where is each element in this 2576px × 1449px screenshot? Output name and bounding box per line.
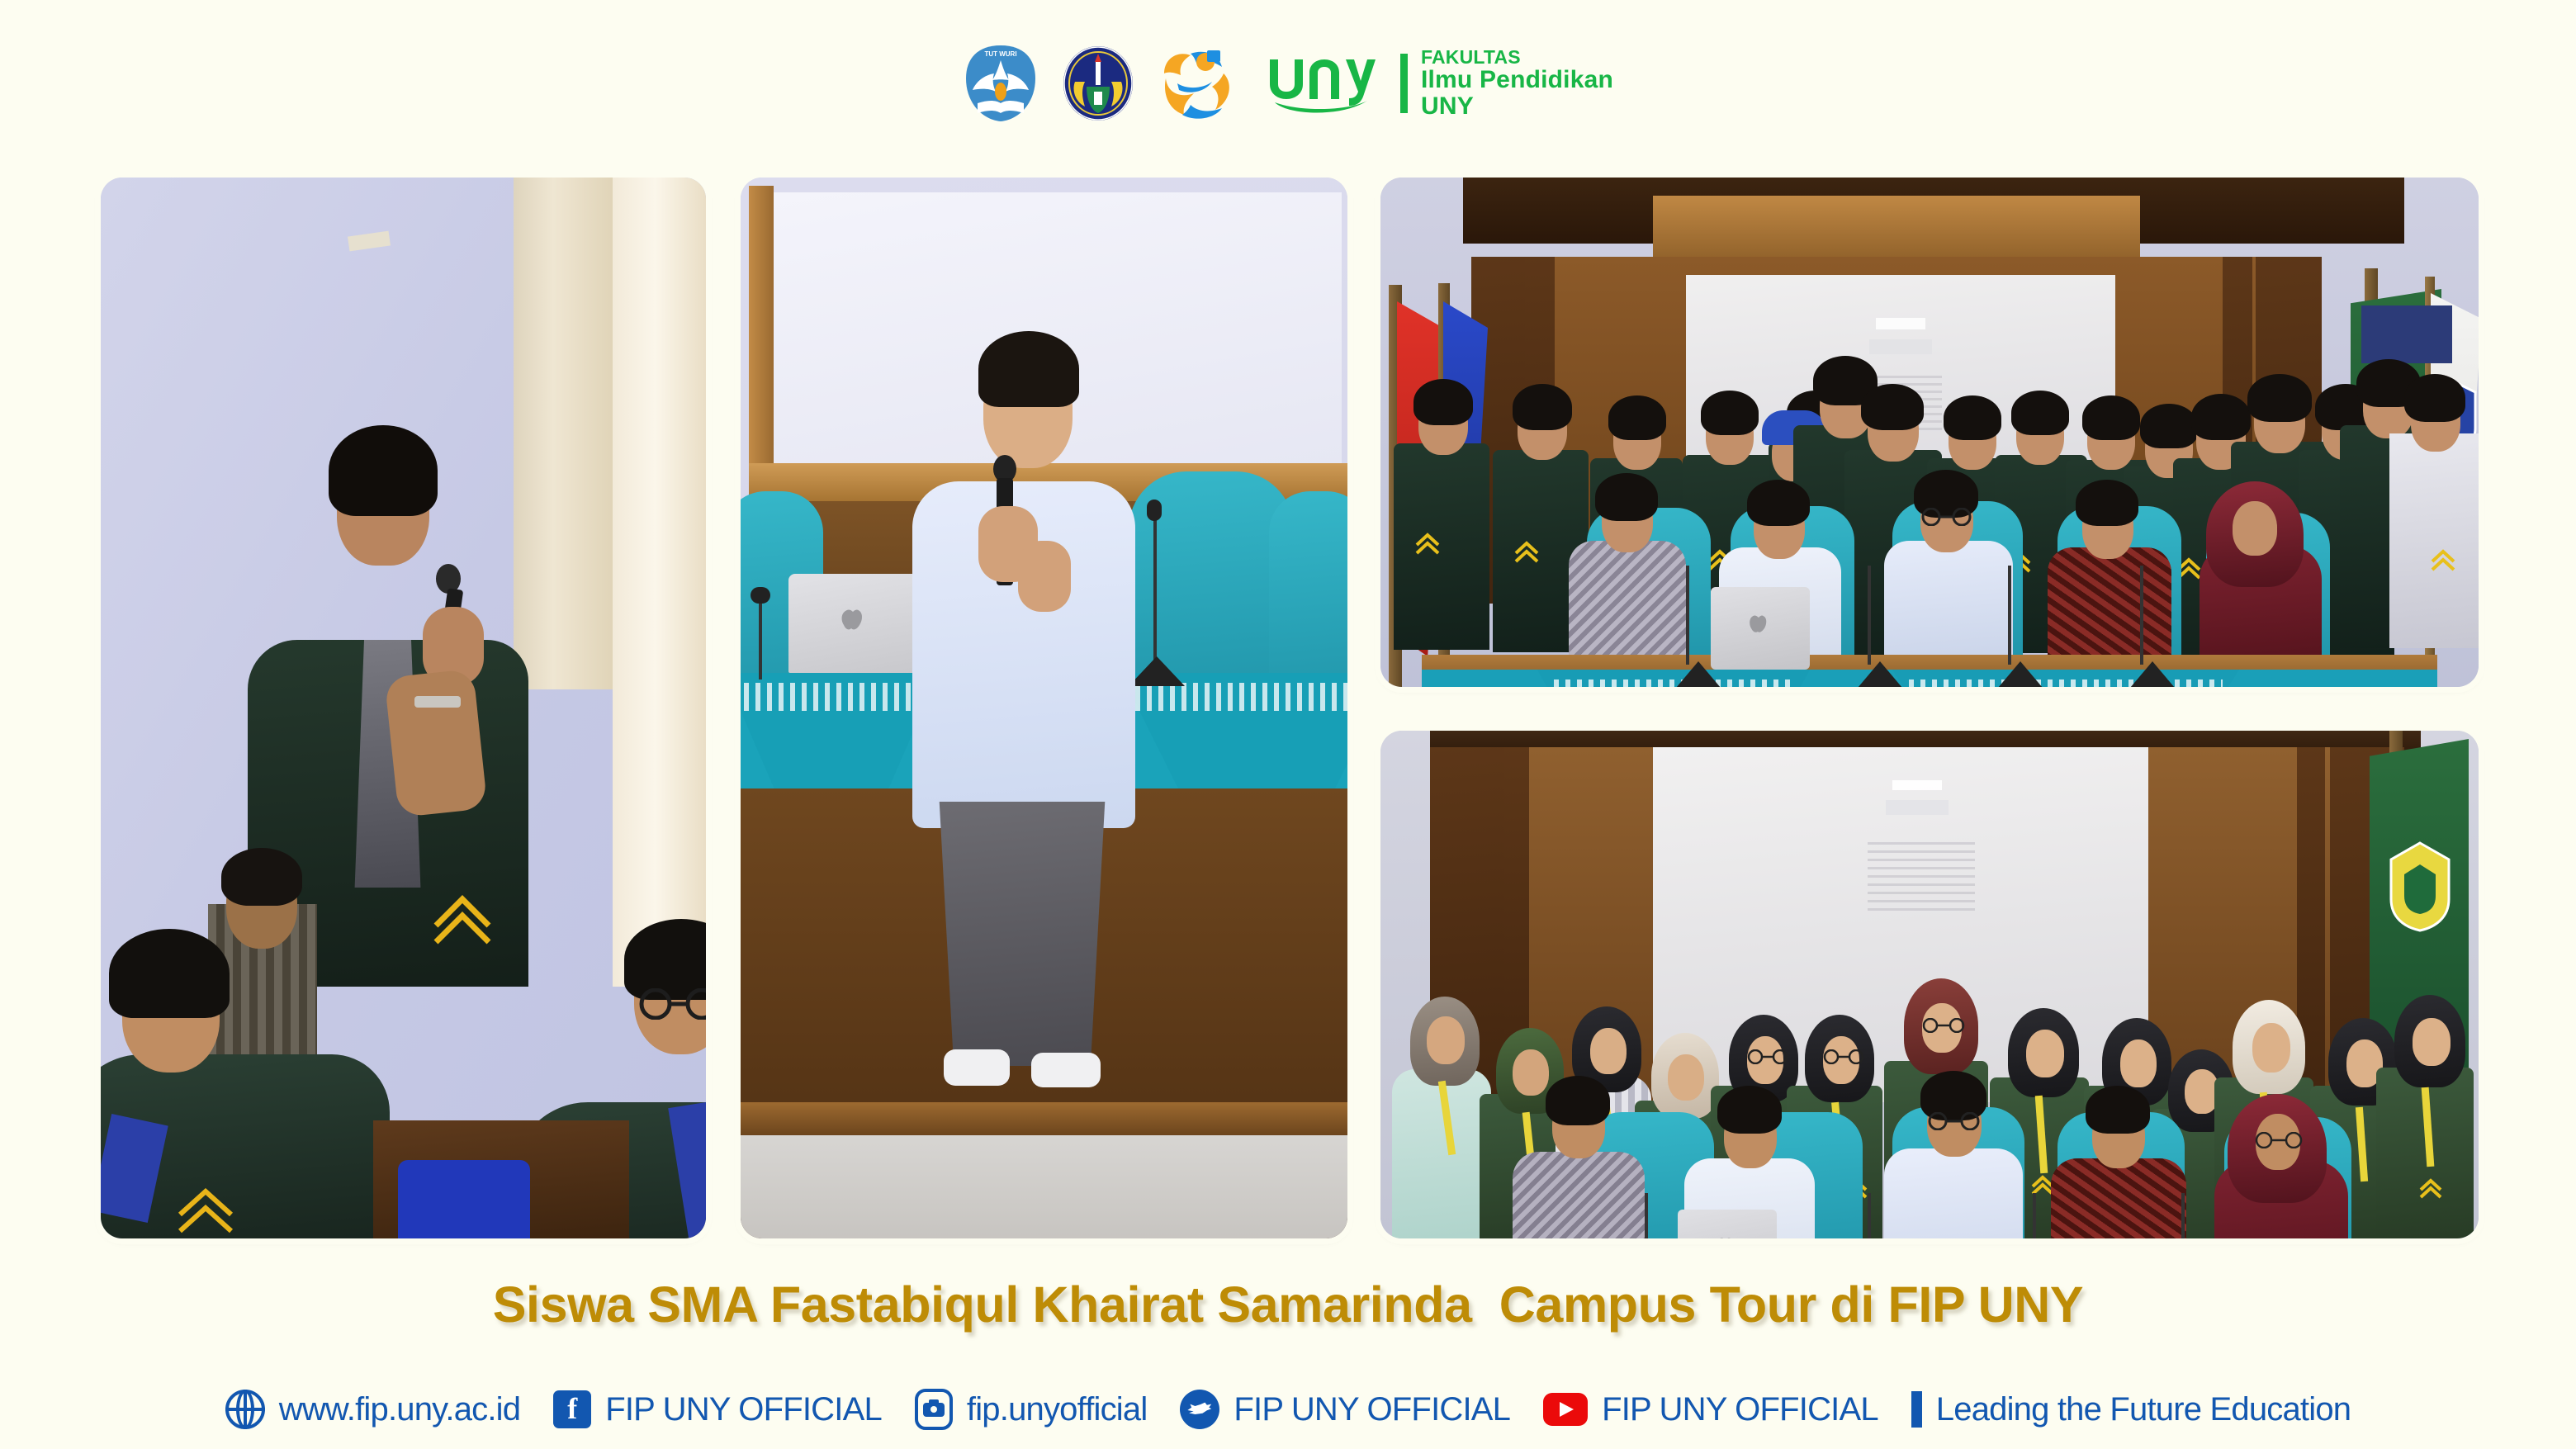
poster-title: Siswa SMA Fastabiqul Khairat Samarinda C…: [0, 1276, 2576, 1333]
footer-item-youtube[interactable]: FIP UNY OFFICIAL: [1543, 1391, 1878, 1428]
footer-item-website[interactable]: www.fip.uny.ac.id: [225, 1390, 520, 1429]
facebook-icon: [553, 1390, 591, 1428]
instagram-label: fip.unyofficial: [967, 1391, 1148, 1428]
tagline-label: Leading the Future Education: [1936, 1391, 2351, 1428]
footer-item-twitter[interactable]: FIP UNY OFFICIAL: [1180, 1390, 1510, 1429]
twitter-icon: [1180, 1390, 1219, 1429]
footer-item-instagram[interactable]: fip.unyofficial: [915, 1389, 1148, 1430]
photo-group-female-students: [1380, 731, 2479, 1238]
photo-student-asking-question: [101, 178, 706, 1238]
facebook-label: FIP UNY OFFICIAL: [605, 1391, 882, 1428]
photo-speaker-presenting: [741, 178, 1347, 1238]
photo-gallery: [0, 0, 2576, 1449]
youtube-label: FIP UNY OFFICIAL: [1602, 1391, 1878, 1428]
photo-group-male-students: [1380, 178, 2479, 687]
globe-icon: [225, 1390, 265, 1429]
website-label: www.fip.uny.ac.id: [279, 1391, 520, 1428]
footer-item-tagline: Leading the Future Education: [1911, 1391, 2351, 1428]
footer-contact-bar: www.fip.uny.ac.id FIP UNY OFFICIAL fip.u…: [0, 1380, 2576, 1438]
vertical-bar-icon: [1911, 1391, 1922, 1428]
poster-canvas: TUT WURI: [0, 0, 2576, 1449]
footer-item-facebook[interactable]: FIP UNY OFFICIAL: [553, 1390, 882, 1428]
instagram-icon: [915, 1389, 953, 1430]
youtube-icon: [1543, 1393, 1588, 1426]
twitter-label: FIP UNY OFFICIAL: [1234, 1391, 1510, 1428]
